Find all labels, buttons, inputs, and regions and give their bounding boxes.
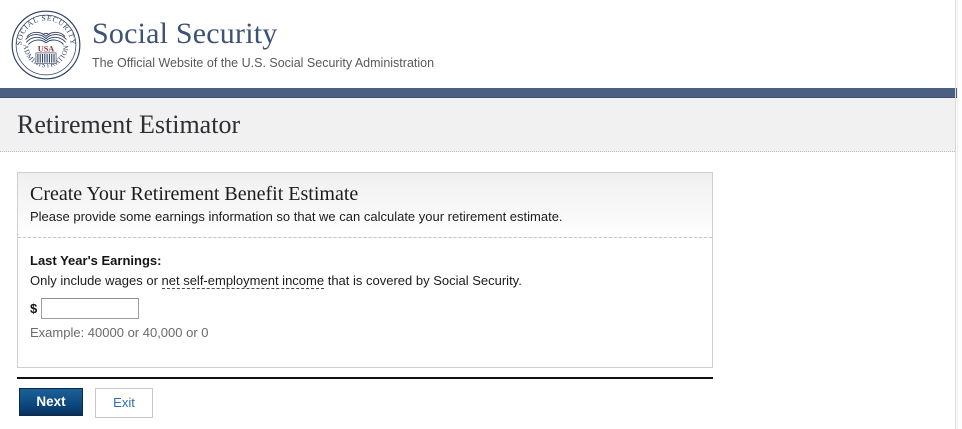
panel-subtitle: Please provide some earnings information… [30,208,700,225]
earnings-example-text: Example: 40000 or 40,000 or 0 [30,325,700,341]
page-title-band: Retirement Estimator [0,98,955,152]
button-bar: Next Exit [19,388,153,418]
help-text-before: Only include wages or [30,273,162,288]
earnings-field-label: Last Year's Earnings: [30,252,700,269]
earnings-input[interactable] [41,298,139,319]
masthead-accent-bar [0,88,962,98]
currency-symbol: $ [30,301,37,316]
site-title: Social Security [92,17,434,51]
earnings-field-help: Only include wages or net self-employmen… [30,272,700,289]
page-root: SOCIAL SECURITY ADMINISTRATION [0,0,962,429]
help-text-after: that is covered by Social Security. [324,273,522,288]
panel-title: Create Your Retirement Benefit Estimate [30,182,700,206]
button-bar-divider [17,377,713,379]
estimate-form-panel: Create Your Retirement Benefit Estimate … [17,172,713,368]
site-tagline: The Official Website of the U.S. Social … [92,56,434,71]
svg-text:USA: USA [38,44,55,53]
earnings-input-row: $ [30,298,700,319]
panel-body: Last Year's Earnings: Only include wages… [18,238,712,367]
page-container-edge [955,0,956,429]
exit-button[interactable]: Exit [95,388,153,418]
site-masthead: SOCIAL SECURITY ADMINISTRATION [0,0,962,88]
ssa-seal-icon: SOCIAL SECURITY ADMINISTRATION [10,9,82,81]
page-title: Retirement Estimator [17,110,240,140]
glossary-term-net-self-employment-income[interactable]: net self-employment income [162,273,325,289]
next-button[interactable]: Next [19,388,83,416]
site-brand[interactable]: Social Security The Official Website of … [92,17,434,71]
panel-header: Create Your Retirement Benefit Estimate … [18,173,712,238]
scrollbar-track[interactable] [957,0,962,429]
